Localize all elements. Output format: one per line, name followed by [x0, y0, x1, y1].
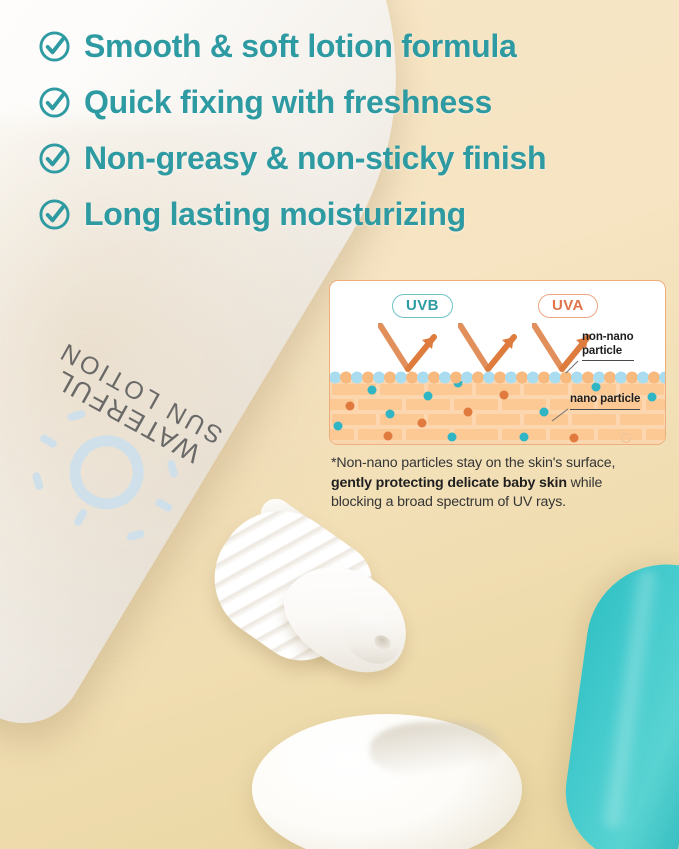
- sun-ray-icon: [154, 497, 174, 513]
- diagram-caption: *Non-nano particles stay on the skin's s…: [331, 454, 671, 513]
- sun-ray-icon: [126, 529, 146, 542]
- callout-line-2: particle: [582, 345, 622, 357]
- caption-bold-phrase: gently protecting delicate baby skin: [331, 475, 567, 491]
- feature-label: Quick fixing with freshness: [84, 84, 492, 121]
- product-marketing-image: WATERFUL SUN LOTION Smooth & soft lotion…: [0, 0, 679, 849]
- feature-item: Non-greasy & non-sticky finish: [38, 140, 663, 177]
- sun-ray-icon: [166, 459, 179, 479]
- check-circle-icon: [38, 30, 71, 63]
- sun-ray-icon: [73, 508, 89, 528]
- feature-item: Smooth & soft lotion formula: [38, 28, 663, 65]
- feature-list: Smooth & soft lotion formula Quick fixin…: [38, 28, 663, 252]
- feature-label: Non-greasy & non-sticky finish: [84, 140, 546, 177]
- caption-line-1: *Non-nano particles stay on the skin's s…: [331, 455, 615, 471]
- feature-label: Smooth & soft lotion formula: [84, 28, 516, 65]
- feature-item: Quick fixing with freshness: [38, 84, 663, 121]
- feature-item: Long lasting moisturizing: [38, 196, 663, 233]
- bottle-nozzle-cap: [214, 508, 444, 708]
- check-circle-icon: [38, 142, 71, 175]
- callout-line-1: nano particle: [570, 393, 640, 405]
- nano-particle-callout: nano particle: [570, 393, 640, 410]
- sun-ray-icon: [67, 409, 87, 422]
- sun-ray-icon: [39, 433, 59, 449]
- uv-protection-diagram: UVB UVA: [329, 280, 666, 445]
- caption-after-bold: while: [567, 475, 602, 491]
- callout-leader-lines: [330, 281, 666, 445]
- callout-underline: [582, 360, 634, 361]
- non-nano-particle-callout: non-nano particle: [582, 331, 634, 361]
- callout-underline: [570, 409, 640, 410]
- feature-label: Long lasting moisturizing: [84, 196, 466, 233]
- callout-line-1: non-nano: [582, 331, 634, 343]
- sun-ray-icon: [31, 471, 44, 491]
- check-circle-icon: [38, 86, 71, 119]
- check-circle-icon: [38, 198, 71, 231]
- caption-line-3: blocking a broad spectrum of UV rays.: [331, 494, 566, 510]
